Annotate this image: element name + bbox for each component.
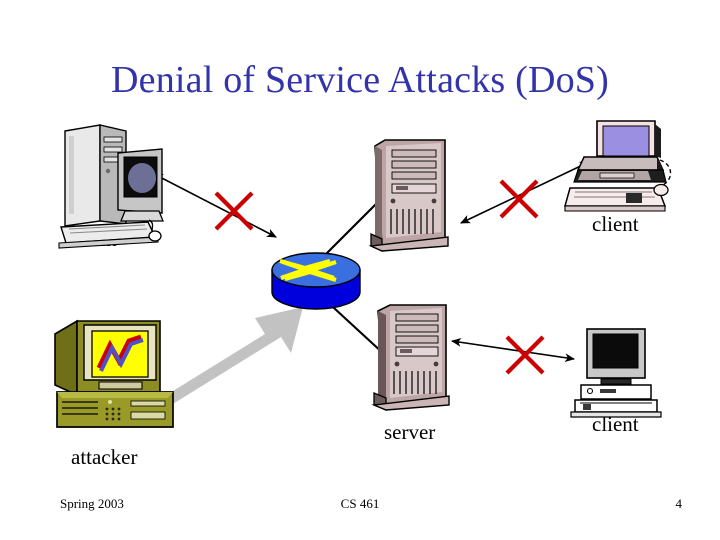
block-mark-top-right: [501, 181, 537, 217]
diagram-block-marks-layer: [0, 0, 720, 540]
block-mark-bottom-right: [507, 337, 543, 373]
slide-canvas: Denial of Service Attacks (DoS) client c…: [0, 0, 720, 540]
block-mark-top-left: [216, 193, 252, 229]
